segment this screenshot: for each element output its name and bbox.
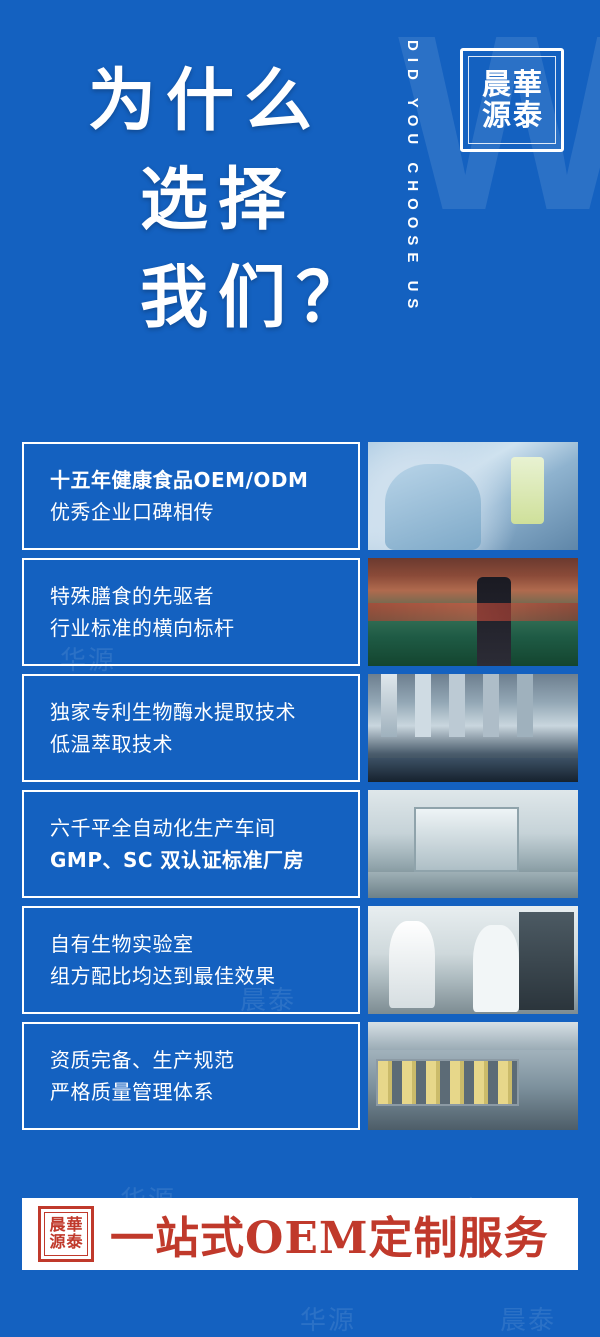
brand-seal-char-3: 晨 xyxy=(482,69,511,100)
capsule-inspection-photo xyxy=(368,1022,578,1130)
list-item: 特殊膳食的先驱者 行业标准的横向标杆 xyxy=(22,558,578,666)
footer-seal-char-2: 泰 xyxy=(67,1234,83,1251)
list-item-line1: 十五年健康食品OEM/ODM xyxy=(50,464,358,496)
title-line-2: 选择 xyxy=(140,151,374,250)
footer-seal-char-4: 源 xyxy=(49,1234,65,1251)
lab-researchers-photo xyxy=(368,906,578,1014)
list-item-text: 十五年健康食品OEM/ODM 优秀企业口碑相传 xyxy=(22,442,360,550)
list-item-text: 特殊膳食的先驱者 行业标准的横向标杆 xyxy=(22,558,360,666)
brand-seal-char-2: 泰 xyxy=(513,100,542,131)
list-item-text: 资质完备、生产规范 严格质量管理体系 xyxy=(22,1022,360,1130)
footer-seal-inner: 華 泰 晨 源 xyxy=(44,1212,88,1256)
list-item-text: 独家专利生物酶水提取技术 低温萃取技术 xyxy=(22,674,360,782)
header: WHY 为什么 选择 我们？ DID YOU CHOOSE US 華 泰 晨 源 xyxy=(0,0,600,432)
list-item-line2: 优秀企业口碑相传 xyxy=(50,496,358,528)
list-item-line1: 六千平全自动化生产车间 xyxy=(50,812,358,844)
footer-seal-column-left: 晨 源 xyxy=(49,1217,65,1251)
list-item: 十五年健康食品OEM/ODM 优秀企业口碑相传 xyxy=(22,442,578,550)
filling-machine-photo xyxy=(368,674,578,782)
footer-banner: 華 泰 晨 源 一站式OEM定制服务 xyxy=(22,1198,578,1270)
cleanroom-workshop-photo xyxy=(368,790,578,898)
list-item-line1: 独家专利生物酶水提取技术 xyxy=(50,696,358,728)
reasons-list: 十五年健康食品OEM/ODM 优秀企业口碑相传 特殊膳食的先驱者 行业标准的横向… xyxy=(22,442,578,1138)
page-title: 为什么 选择 我们？ xyxy=(88,52,374,348)
list-item: 独家专利生物酶水提取技术 低温萃取技术 xyxy=(22,674,578,782)
list-item-line1: 特殊膳食的先驱者 xyxy=(50,580,358,612)
conference-audience-photo xyxy=(368,558,578,666)
list-item-line2: 行业标准的横向标杆 xyxy=(50,612,358,644)
list-item-line2: 严格质量管理体系 xyxy=(50,1076,358,1108)
background-watermark: 晨泰 xyxy=(500,1300,556,1337)
list-item-line2: 低温萃取技术 xyxy=(50,728,358,760)
list-item: 资质完备、生产规范 严格质量管理体系 xyxy=(22,1022,578,1130)
background-watermark: 华源 xyxy=(300,1300,356,1337)
brand-seal-logo: 華 泰 晨 源 xyxy=(460,48,564,152)
vertical-english-caption: DID YOU CHOOSE US xyxy=(404,40,421,390)
brand-seal-column-left: 晨 源 xyxy=(482,69,511,132)
brand-seal-char-4: 源 xyxy=(482,100,511,131)
list-item-line2: GMP、SC 双认证标准厂房 xyxy=(50,844,358,876)
list-item: 六千平全自动化生产车间 GMP、SC 双认证标准厂房 xyxy=(22,790,578,898)
lab-technician-photo xyxy=(368,442,578,550)
brand-seal-inner: 華 泰 晨 源 xyxy=(468,56,556,144)
title-line-1: 为什么 xyxy=(88,52,374,151)
brand-seal-char-1: 華 xyxy=(513,69,542,100)
footer-seal-logo: 華 泰 晨 源 xyxy=(38,1206,94,1262)
list-item-text: 六千平全自动化生产车间 GMP、SC 双认证标准厂房 xyxy=(22,790,360,898)
footer-slogan: 一站式OEM定制服务 xyxy=(110,1202,549,1266)
list-item-line1: 自有生物实验室 xyxy=(50,928,358,960)
title-line-3: 我们？ xyxy=(140,249,374,348)
list-item-line1: 资质完备、生产规范 xyxy=(50,1044,358,1076)
list-item-text: 自有生物实验室 组方配比均达到最佳效果 xyxy=(22,906,360,1014)
list-item: 自有生物实验室 组方配比均达到最佳效果 xyxy=(22,906,578,1014)
list-item-line2: 组方配比均达到最佳效果 xyxy=(50,960,358,992)
brand-seal-column-right: 華 泰 xyxy=(513,69,542,132)
footer-seal-column-right: 華 泰 xyxy=(67,1217,83,1251)
